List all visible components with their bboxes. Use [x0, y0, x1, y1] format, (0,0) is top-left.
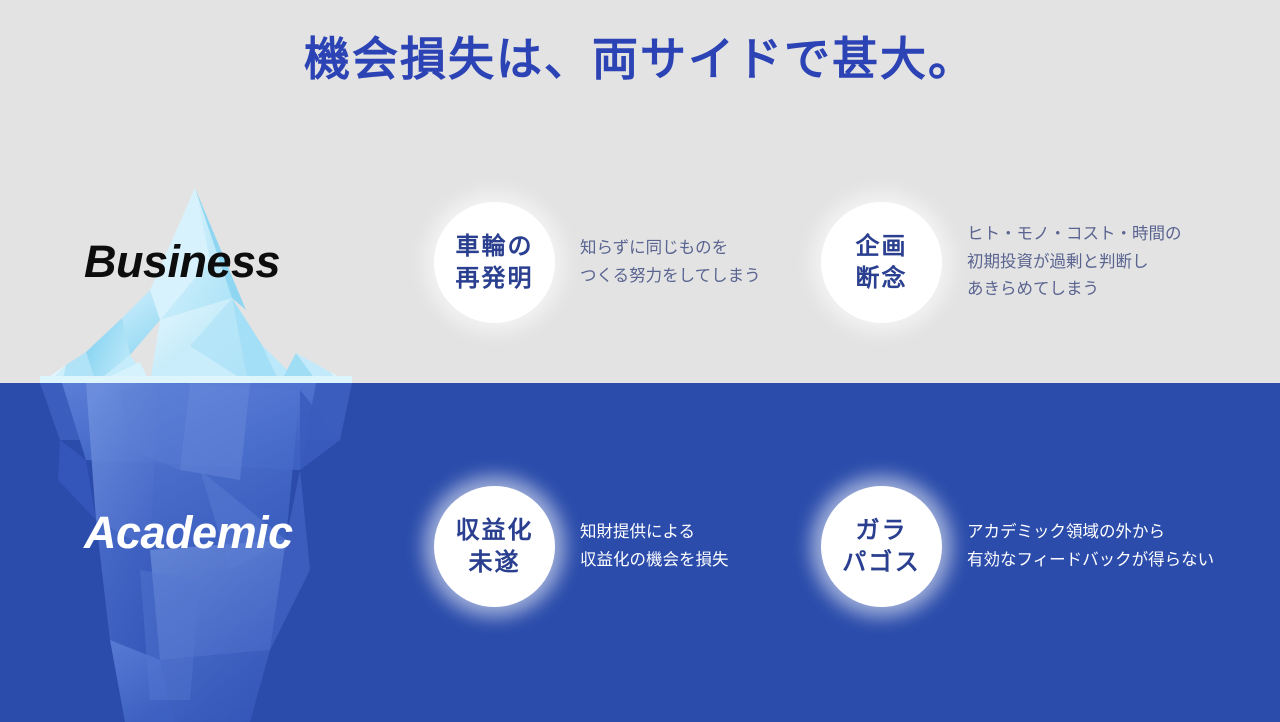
- bubble-circle[interactable]: 車輪の 再発明: [434, 202, 555, 323]
- bubble-group-monetization-failure[interactable]: 収益化 未遂 知財提供による 収益化の機会を損失: [434, 486, 729, 607]
- bubble-description: ヒト・モノ・コスト・時間の 初期投資が過剰と判断し あきらめてしまう: [967, 221, 1182, 304]
- page-title: 機会損失は、両サイドで甚大。: [0, 34, 1280, 85]
- desc-line-3: あきらめてしまう: [967, 276, 1182, 304]
- bubble-description: 知財提供による 収益化の機会を損失: [580, 519, 729, 574]
- bubble-description: アカデミック領域の外から 有効なフィードバックが得らない: [967, 519, 1214, 574]
- desc-line-2: 初期投資が過剰と判断し: [967, 249, 1182, 277]
- bubble-group-plan-abandonment[interactable]: 企画 断念 ヒト・モノ・コスト・時間の 初期投資が過剰と判断し あきらめてしまう: [821, 202, 1182, 323]
- desc-line-1: 知財提供による: [580, 519, 729, 547]
- bubble-description: 知らずに同じものを つくる努力をしてしまう: [580, 235, 761, 290]
- bubble-title-line1: ガラ: [856, 515, 908, 547]
- bubble-circle[interactable]: ガラ パゴス: [821, 486, 942, 607]
- bubble-title-line1: 企画: [856, 231, 908, 263]
- bubble-title-line1: 収益化: [456, 515, 534, 547]
- bubble-circle[interactable]: 企画 断念: [821, 202, 942, 323]
- bubble-title-line2: 断念: [856, 263, 908, 295]
- section-label-business: Business: [84, 236, 280, 288]
- desc-line-1: アカデミック領域の外から: [967, 519, 1214, 547]
- desc-line-1: 知らずに同じものを: [580, 235, 761, 263]
- bubble-title-line2: 未遂: [469, 547, 521, 579]
- bubble-title-line2: 再発明: [456, 263, 534, 295]
- desc-line-2: 収益化の機会を損失: [580, 547, 729, 575]
- bubble-group-wheel-reinvention[interactable]: 車輪の 再発明 知らずに同じものを つくる努力をしてしまう: [434, 202, 761, 323]
- bubble-group-galapagos[interactable]: ガラ パゴス アカデミック領域の外から 有効なフィードバックが得らない: [821, 486, 1214, 607]
- slide-canvas: 機会損失は、両サイドで甚大。 Business Academic 車輪の 再発明…: [0, 0, 1280, 722]
- desc-line-2: 有効なフィードバックが得らない: [967, 547, 1214, 575]
- bubble-circle[interactable]: 収益化 未遂: [434, 486, 555, 607]
- bubble-title-line2: パゴス: [842, 547, 920, 579]
- section-label-academic: Academic: [84, 507, 293, 559]
- desc-line-1: ヒト・モノ・コスト・時間の: [967, 221, 1182, 249]
- bubble-title-line1: 車輪の: [456, 231, 534, 263]
- desc-line-2: つくる努力をしてしまう: [580, 263, 761, 291]
